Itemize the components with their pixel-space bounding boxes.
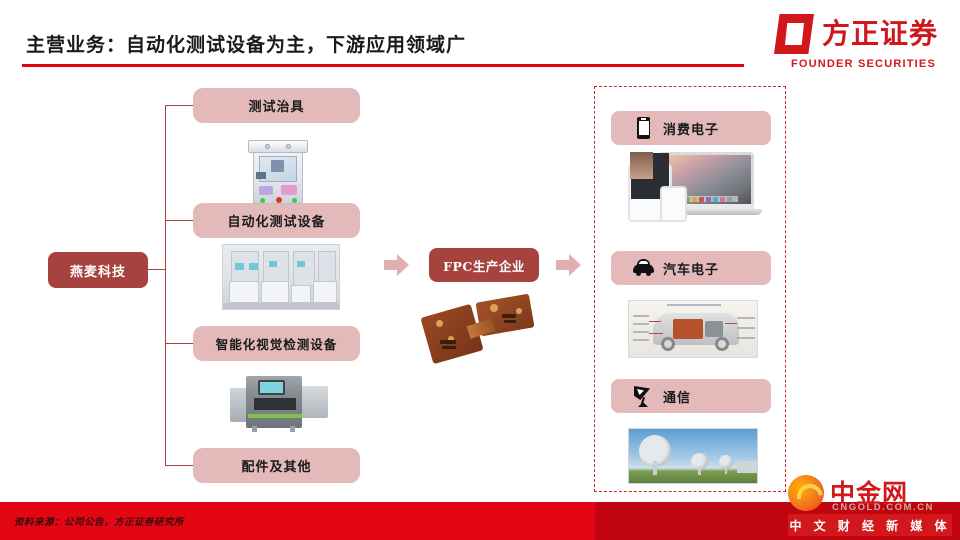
product-box-test-fixture: 测试治具 <box>193 88 360 123</box>
category-label-automotive-electronics: 汽车电子 <box>663 259 719 278</box>
product-box-automation-test-equipment: 自动化测试设备 <box>193 203 360 238</box>
cngold-logo-icon <box>788 475 824 511</box>
connector-trunk-vertical <box>165 105 166 465</box>
category-label-communication: 通信 <box>663 387 691 406</box>
watermark-tagline: 中 文 财 经 新 媒 体 <box>789 517 950 534</box>
product-box-intelligent-vision-inspection: 智能化视觉检测设备 <box>193 326 360 361</box>
car-icon <box>633 257 653 279</box>
connector-branch-4 <box>165 465 193 466</box>
satellite-dish-icon <box>633 385 653 407</box>
arrow-fpc-to-downstream <box>556 254 582 276</box>
title-underline <box>22 64 744 67</box>
connector-branch-1 <box>165 105 193 106</box>
fpc-manufacturer-node: FPC生产企业 <box>429 248 539 282</box>
page-title: 主营业务：自动化测试设备为主，下游应用领域广 <box>26 30 466 57</box>
automation-test-line-photo <box>222 244 340 310</box>
founder-logo-mark-icon <box>774 14 814 54</box>
cngold-watermark: 中金网 CNGOLD.COM.CN 中 文 财 经 新 媒 体 <box>788 472 952 538</box>
category-label-consumer-electronics: 消费电子 <box>663 119 719 138</box>
watermark-domain: CNGOLD.COM.CN <box>832 502 934 513</box>
product-box-accessories-other: 配件及其他 <box>193 448 360 483</box>
category-box-communication: 通信 <box>611 379 771 413</box>
test-fixture-machine-photo <box>245 132 311 208</box>
founder-securities-logo: 方正证券 FOUNDER SECURITIES <box>774 14 938 70</box>
connector-branch-2 <box>165 220 193 221</box>
category-box-automotive-electronics: 汽车电子 <box>611 251 771 285</box>
car-cutaway-diagram-photo <box>628 300 758 358</box>
fpc-flexible-circuit-board-photo <box>424 296 534 362</box>
slide-root: 主营业务：自动化测试设备为主，下游应用领域广 方正证券 FOUNDER SECU… <box>0 0 960 540</box>
source-note: 资料来源：公司公告，方正证券研究所 <box>14 514 184 528</box>
category-box-consumer-electronics: 消费电子 <box>611 111 771 145</box>
phone-icon <box>633 117 653 139</box>
connector-branch-3 <box>165 343 193 344</box>
logo-chinese-name: 方正证券 <box>822 20 938 48</box>
arrow-products-to-fpc <box>384 254 410 276</box>
aoi-inspection-machine-photo <box>228 370 332 432</box>
satellite-dishes-photo <box>628 428 758 484</box>
laptop-tablet-phone-photo <box>628 148 758 222</box>
company-root-node: 燕麦科技 <box>48 252 148 288</box>
logo-english-name: FOUNDER SECURITIES <box>791 58 936 70</box>
watermark-tagline-bar: 中 文 财 经 新 媒 体 <box>788 514 952 536</box>
connector-root-to-trunk <box>148 269 166 270</box>
